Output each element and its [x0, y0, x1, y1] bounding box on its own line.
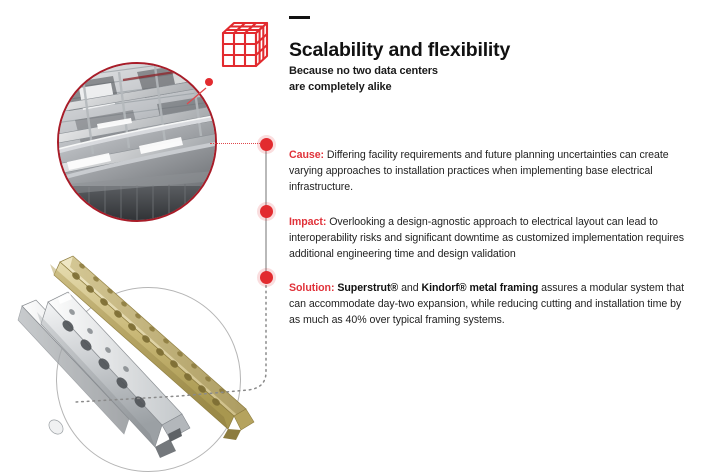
- brand-kindorf: Kindorf® metal framing: [422, 282, 539, 294]
- strut-illustration: [10, 244, 290, 472]
- impact-body: Overlooking a design-agnostic approach t…: [289, 216, 684, 260]
- metal-strut-channel-photo: [10, 244, 290, 472]
- brand-superstrut: Superstrut®: [337, 282, 398, 294]
- content-column: Scalability and flexibility Because no t…: [289, 0, 694, 472]
- infographic-panel: Scalability and flexibility Because no t…: [0, 0, 704, 472]
- cube-grid-icon: [216, 16, 274, 74]
- title-rule: [289, 16, 310, 19]
- node-cause[interactable]: [260, 138, 273, 151]
- subheading-line-2: are completely alike: [289, 81, 392, 93]
- subheading-line-1: Because no two data centers: [289, 65, 438, 77]
- paragraph-impact: Impact: Overlooking a design-agnostic ap…: [289, 214, 693, 262]
- node-solution[interactable]: [260, 271, 273, 284]
- page-title: Scalability and flexibility: [289, 39, 689, 61]
- solution-mid: and: [398, 282, 421, 294]
- cause-body: Differing facility requirements and futu…: [289, 149, 669, 193]
- photo-callout-dot: [205, 78, 213, 86]
- photo-callout-stem: [186, 84, 210, 108]
- cause-label: Cause:: [289, 149, 324, 161]
- solution-label: Solution:: [289, 282, 334, 294]
- cause-connector-dotted-line: [210, 143, 262, 144]
- paragraph-solution: Solution: Superstrut® and Kindorf® metal…: [289, 280, 693, 328]
- paragraph-cause: Cause: Differing facility requirements a…: [289, 147, 693, 195]
- subheading: Because no two data centers are complete…: [289, 64, 589, 96]
- impact-label: Impact:: [289, 216, 326, 228]
- node-impact[interactable]: [260, 205, 273, 218]
